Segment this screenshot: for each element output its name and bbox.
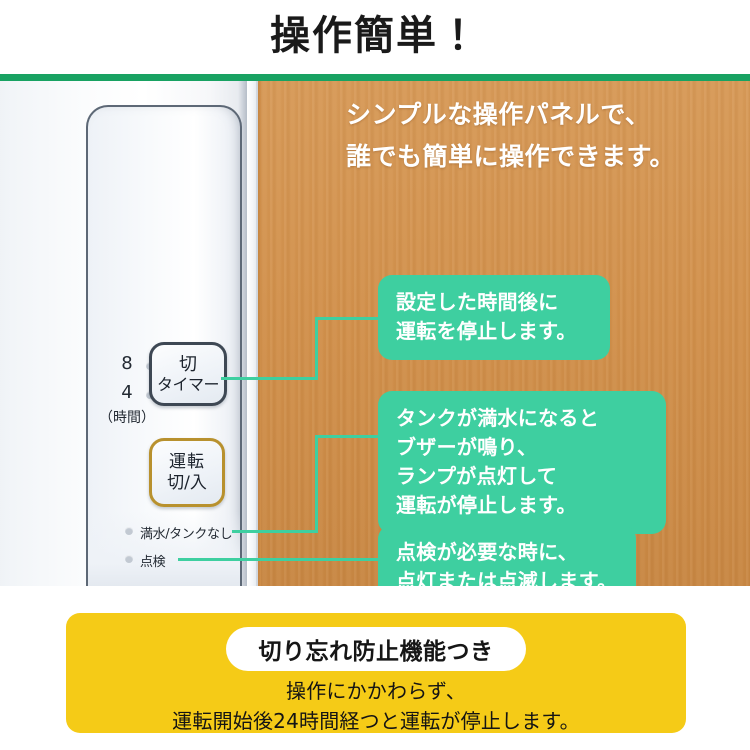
connector-full-tank-segment-3 [315,435,380,438]
timer-hours-unit-label: （時間） [96,407,158,429]
header-banner: 操作簡単！ [0,0,750,74]
callout-timer-line2: 運転を停止します。 [396,317,594,346]
auto-shutoff-description-line2: 運転開始後24時間経つと運転が停止します。 [66,706,686,736]
auto-shutoff-badge-label: 切り忘れ防止機能つき [259,632,494,666]
callout-full-tank-line1: タンクが満水になると [396,404,650,433]
auto-shutoff-panel: 切り忘れ防止機能つき 操作にかかわらず、 運転開始後24時間経つと運転が停止しま… [66,613,686,733]
connector-timer-segment-1 [221,377,318,380]
power-button-label-line1: 運転 [169,452,205,473]
lead-copy-line1: シンプルな操作パネルで、 [346,94,746,136]
off-timer-button-label-line1: 切 [179,354,197,375]
product-photo-stage: 8 4 （時間） 切 タイマー 運転 切/入 満水/タンクなし 点検 シンプルな… [0,81,750,586]
callout-inspection: 点検が必要な時に、 点灯または点滅します。 [378,525,636,586]
off-timer-button-label-line2: タイマー [157,375,219,395]
power-on-off-button[interactable]: 運転 切/入 [149,438,225,507]
header-divider [0,74,750,81]
auto-shutoff-badge: 切り忘れ防止機能つき [226,627,526,671]
off-timer-button[interactable]: 切 タイマー [149,342,227,406]
callout-inspection-line1: 点検が必要な時に、 [396,538,620,567]
full-tank-status-label: 満水/タンクなし [140,523,232,542]
auto-shutoff-description: 操作にかかわらず、 運転開始後24時間経つと運転が停止します。 [66,676,686,736]
callout-timer: 設定した時間後に 運転を停止します。 [378,275,610,360]
connector-full-tank-segment-1 [232,530,318,533]
callout-full-tank-line2: ブザーが鳴り、 [396,433,650,462]
inspection-status-label: 点検 [140,551,165,570]
callout-inspection-line2: 点灯または点滅します。 [396,567,620,586]
connector-timer-segment-3 [315,317,380,320]
lead-copy: シンプルな操作パネルで、 誰でも簡単に操作できます。 [346,94,746,178]
callout-full-tank-line4: 運転が停止します。 [396,491,650,520]
auto-shutoff-description-line1: 操作にかかわらず、 [66,676,686,706]
callout-full-tank: タンクが満水になると ブザーが鳴り、 ランプが点灯して 運転が停止します。 [378,391,666,534]
connector-timer-segment-2 [315,317,318,380]
callout-timer-line1: 設定した時間後に [396,288,594,317]
full-tank-indicator-lamp-icon [125,527,133,535]
callout-full-tank-line3: ランプが点灯して [396,462,650,491]
lead-copy-line2: 誰でも簡単に操作できます。 [346,136,746,178]
connector-inspection-segment-1 [178,558,380,561]
page-title: 操作簡単！ [0,12,750,60]
humidifier-side-highlight [247,81,256,586]
connector-full-tank-segment-2 [315,435,318,533]
inspection-indicator-lamp-icon [125,555,133,563]
power-button-label-line2: 切/入 [167,473,207,494]
